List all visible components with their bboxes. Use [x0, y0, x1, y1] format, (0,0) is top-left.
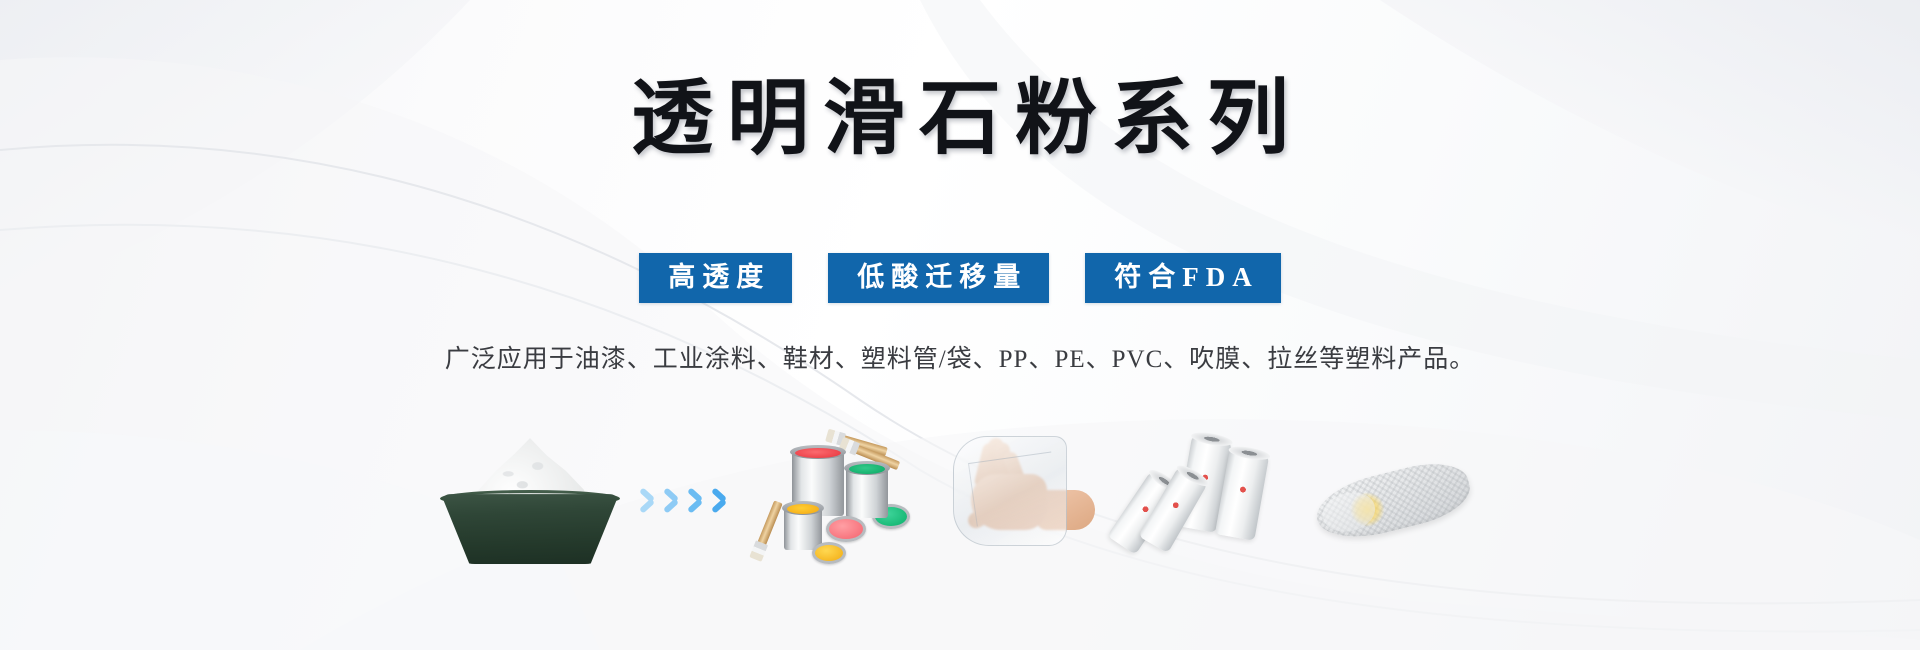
- green-bowl-icon: [441, 494, 619, 564]
- process-arrows-image: [636, 471, 746, 531]
- badge-high-transparency: 高透度: [639, 253, 792, 303]
- product-image-strip: [433, 426, 1488, 576]
- talc-powder-bowl-image: [433, 436, 628, 566]
- chevron-right-icon: [684, 484, 706, 518]
- chevron-right-icon: [708, 484, 730, 518]
- plastic-film-rolls-image: [1110, 436, 1295, 566]
- green-paint-can-icon: [846, 468, 888, 518]
- banner-content: 透明滑石粉系列 高透度 低酸迁移量 符合FDA 广泛应用于油漆、工业涂料、鞋材、…: [0, 0, 1920, 650]
- badge-fda-compliant: 符合FDA: [1085, 253, 1281, 303]
- application-description: 广泛应用于油漆、工业涂料、鞋材、塑料管/袋、PP、PE、PVC、吹膜、拉丝等塑料…: [445, 339, 1476, 375]
- paint-cans-image: [754, 436, 929, 566]
- yellow-paint-can-icon: [784, 508, 822, 550]
- page-title: 透明滑石粉系列: [617, 78, 1303, 160]
- pink-paint-disc-icon: [826, 516, 866, 542]
- feature-badge-list: 高透度 低酸迁移量 符合FDA: [639, 253, 1281, 303]
- transparent-glove-icon: [953, 436, 1067, 546]
- yellow-paint-disc-icon: [812, 542, 846, 564]
- chevron-right-icon: [660, 484, 682, 518]
- badge-low-acid-migration: 低酸迁移量: [828, 253, 1049, 303]
- shoe-sole-icon: [1310, 454, 1475, 548]
- product-banner: 透明滑石粉系列 高透度 低酸迁移量 符合FDA 广泛应用于油漆、工业涂料、鞋材、…: [0, 0, 1920, 650]
- shoe-sole-image: [1303, 436, 1488, 566]
- paint-brush-icon: [757, 500, 783, 546]
- chevron-right-icon: [636, 484, 658, 518]
- plastic-glove-hand-image: [937, 436, 1102, 566]
